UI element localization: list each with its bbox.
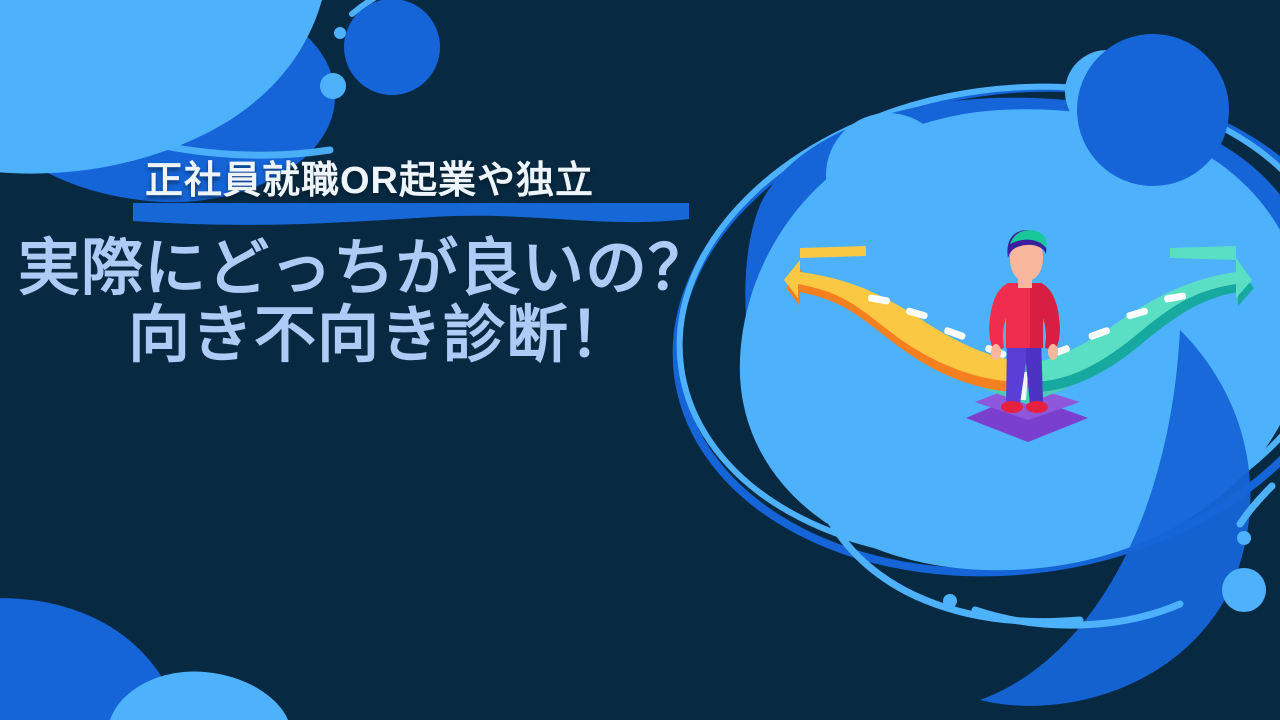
right-teal-arrow bbox=[1026, 260, 1252, 382]
figure-hand-right bbox=[1048, 344, 1058, 360]
banner-canvas: 正社員就職OR起業や独立 実際にどっちが良いの？ 向き不向き診断！ bbox=[0, 0, 1280, 720]
figure-hand-left bbox=[991, 344, 1001, 360]
headline-line-2: 向き不向き診断！ bbox=[0, 303, 740, 370]
headline-text-block: 正社員就職OR起業や独立 実際にどっちが良いの？ 向き不向き診断！ bbox=[0, 150, 740, 370]
figure-shoe-left bbox=[1001, 401, 1023, 413]
left-yellow-arrow bbox=[784, 260, 1024, 382]
headline-line-1: 実際にどっちが良いの？ bbox=[0, 236, 740, 303]
eyebrow-row: 正社員就職OR起業や独立 bbox=[0, 150, 740, 220]
figure-jacket-shade bbox=[1030, 283, 1060, 350]
figure-shoe-right bbox=[1026, 401, 1048, 413]
page-title: 実際にどっちが良いの？ 向き不向き診断！ bbox=[0, 236, 740, 370]
eyebrow-label: 正社員就職OR起業や独立 bbox=[145, 150, 594, 212]
